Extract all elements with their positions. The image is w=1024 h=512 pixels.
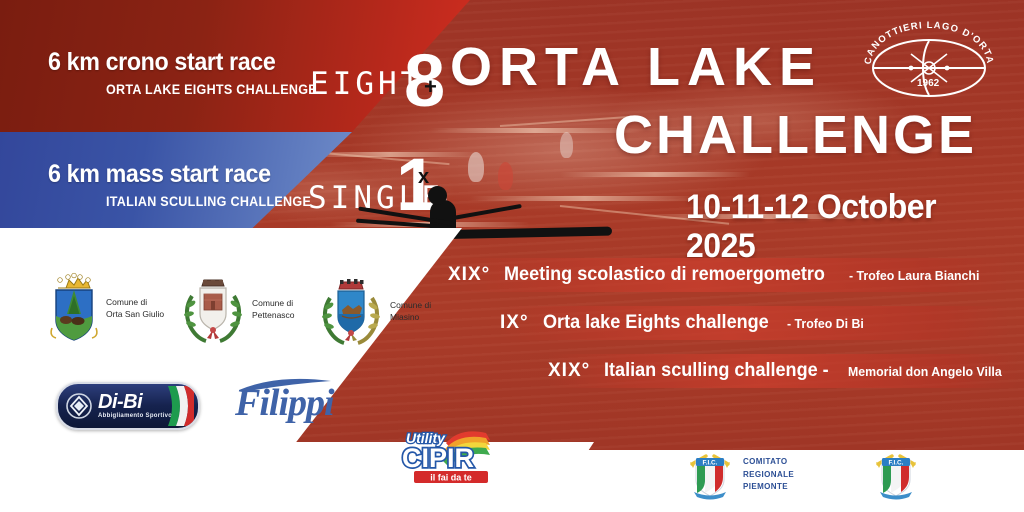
event-name: Orta lake Eights challenge <box>543 312 769 334</box>
comune-name: Pettenasco <box>252 309 295 321</box>
event-roman: XIX° <box>448 264 490 286</box>
band-eights-subline: ORTA LAKE EIGHTS CHALLENGE <box>106 82 317 97</box>
sponsor-di-bi-tagline: Abbigliamento Sportivo <box>98 413 172 419</box>
comune-prefix: Comune di <box>390 299 431 311</box>
event-roman: IX° <box>500 312 529 334</box>
comune-orta-san-giulio: Comune di Orta San Giulio <box>48 272 164 344</box>
photo-boat <box>560 172 750 177</box>
band-eights-headline: 6 km crono start race <box>48 48 275 77</box>
comune-prefix: Comune di <box>252 297 295 309</box>
event-roman: XIX° <box>548 360 590 382</box>
comune-prefix: Comune di <box>106 296 164 308</box>
event-row-2: IX° Orta lake Eights challenge - Trofeo … <box>500 306 1010 340</box>
svg-text:CIPIR: CIPIR <box>402 443 474 473</box>
sponsor-filippi: Filippi <box>235 381 334 425</box>
photo-rower <box>560 132 573 158</box>
photo-boat <box>430 128 640 133</box>
band-eights-mark: + <box>424 74 437 100</box>
orta-san-giulio-crest-icon <box>48 272 100 344</box>
event-row-3: XIX° Italian sculling challenge - Memori… <box>548 354 1018 388</box>
event-name: Italian sculling challenge - <box>604 360 829 382</box>
event-row-1: XIX° Meeting scolastico di remoergometro… <box>448 258 1008 292</box>
event-date: 10-11-12 October 2025 <box>686 188 1004 266</box>
pettenasco-crest-icon <box>180 274 246 344</box>
photo-rower <box>498 162 513 190</box>
fic-shield-icon: F.I.C. <box>686 450 734 500</box>
svg-text:F.I.C.: F.I.C. <box>889 460 904 467</box>
canottieri-lago-dorta-crest-icon: CANOTTIERI LAGO D'ORTA 1962 <box>855 20 1003 104</box>
page-title-line2: CHALLENGE <box>614 104 977 166</box>
federation-line2: REGIONALE <box>743 469 794 481</box>
sponsor-di-bi: Di-Bi Abbigliamento Sportivo <box>56 382 200 430</box>
filippi-swoosh-icon <box>237 378 333 394</box>
band-single-mark: x <box>418 166 429 189</box>
event-subtitle: - Trofeo Laura Bianchi <box>849 268 979 283</box>
comune-name: Orta San Giulio <box>106 308 164 320</box>
comune-pettenasco: Comune di Pettenasco <box>180 274 295 344</box>
federation-line1: COMITATO <box>743 456 794 468</box>
comune-name: Miasino <box>390 311 431 323</box>
event-name: Meeting scolastico di remoergometro <box>504 264 825 286</box>
event-subtitle: Memorial don Angelo Villa <box>848 364 1002 379</box>
federation-line3: PIEMONTE <box>743 481 794 493</box>
sponsor-cipir: Utility CIPIR il fai da te <box>398 421 506 483</box>
svg-text:1962: 1962 <box>917 78 940 89</box>
band-single-headline: 6 km mass start race <box>48 160 271 189</box>
sponsor-di-bi-name: Di-Bi <box>98 391 142 414</box>
di-bi-diamond-icon <box>66 393 92 419</box>
italian-flag-icon <box>164 384 194 428</box>
fic-shield-icon: F.I.C. <box>872 450 920 500</box>
band-single-subline: ITALIAN SCULLING CHALLENGE <box>106 194 311 209</box>
miasino-crest-icon <box>318 276 384 346</box>
photo-rower <box>468 152 484 182</box>
photo-boat <box>470 196 700 201</box>
svg-text:F.I.C.: F.I.C. <box>703 460 718 467</box>
svg-text:il fai da te: il fai da te <box>430 473 472 483</box>
event-poster: 6 km crono start race ORTA LAKE EIGHTS C… <box>0 0 1024 512</box>
federation-logo-fic: F.I.C. <box>872 450 920 500</box>
comune-miasino: Comune di Miasino <box>318 276 431 346</box>
federation-logo-piemonte: F.I.C. COMITATO REGIONALE PIEMONTE <box>686 450 794 500</box>
page-title-line1: ORTA LAKE <box>450 36 822 98</box>
event-subtitle: - Trofeo Di Bi <box>787 316 864 331</box>
